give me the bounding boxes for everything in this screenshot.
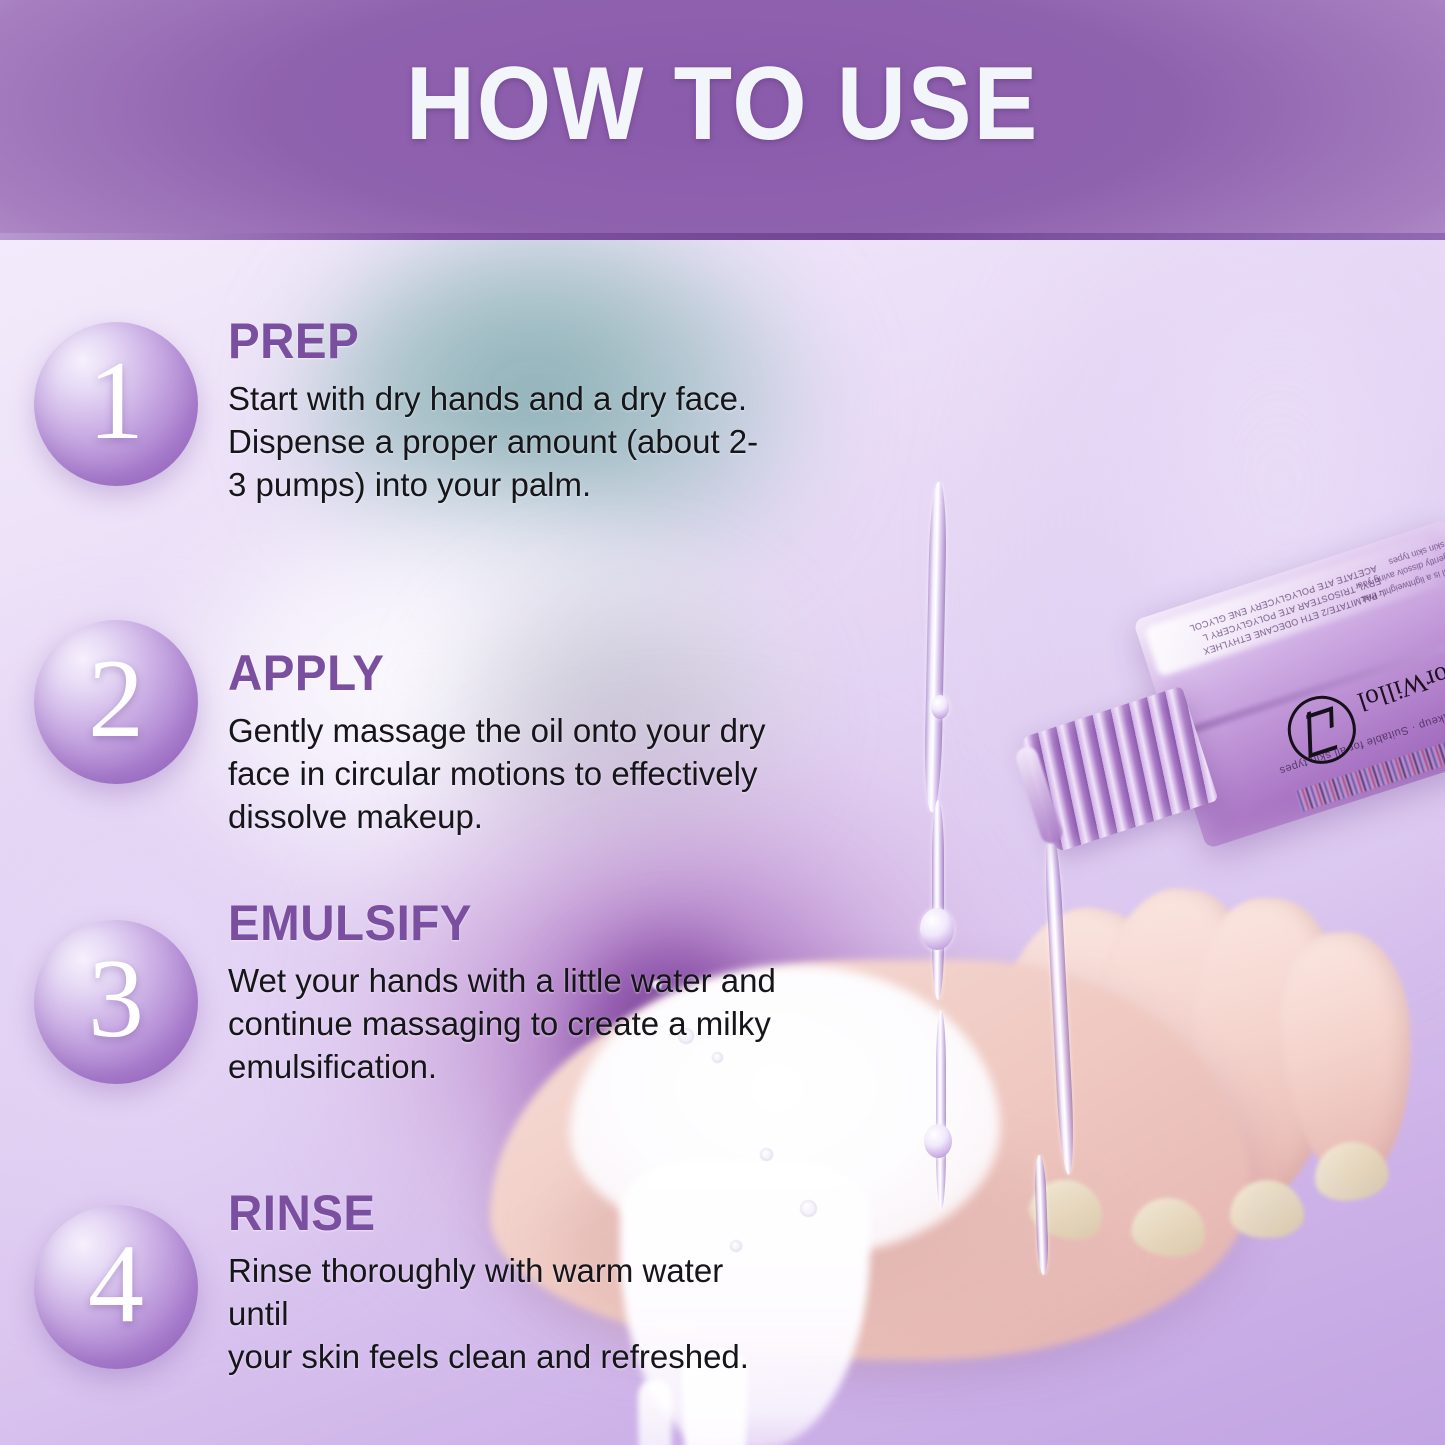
step-title: APPLY <box>228 648 760 698</box>
step-body: Rinse thoroughly with warm water until y… <box>228 1250 788 1379</box>
step-title: EMULSIFY <box>228 898 770 948</box>
step-number: 3 <box>34 920 198 1084</box>
step-text-block: PREP Start with dry hands and a dry face… <box>228 316 788 507</box>
step-badge-1: 1 <box>34 322 198 486</box>
how-to-use-poster: HOW TO USE <box>0 0 1445 1445</box>
step-badge-3: 3 <box>34 920 198 1084</box>
step-body: Wet your hands with a little water and c… <box>228 960 798 1089</box>
step-number: 2 <box>34 620 198 784</box>
step-text-block: APPLY Gently massage the oil onto your d… <box>228 648 788 839</box>
step-body: Gently massage the oil onto your dry fac… <box>228 710 788 839</box>
step-title: PREP <box>228 316 760 366</box>
step-number: 1 <box>34 322 198 486</box>
step-badge-2: 2 <box>34 620 198 784</box>
step-body: Start with dry hands and a dry face. Dis… <box>228 378 788 507</box>
step-text-block: RINSE Rinse thoroughly with warm water u… <box>228 1188 788 1379</box>
step-number: 4 <box>34 1205 198 1369</box>
steps-list: 1 PREP Start with dry hands and a dry fa… <box>0 0 1445 1445</box>
step-title: RINSE <box>228 1188 760 1238</box>
step-badge-4: 4 <box>34 1205 198 1369</box>
step-text-block: EMULSIFY Wet your hands with a little wa… <box>228 898 798 1089</box>
